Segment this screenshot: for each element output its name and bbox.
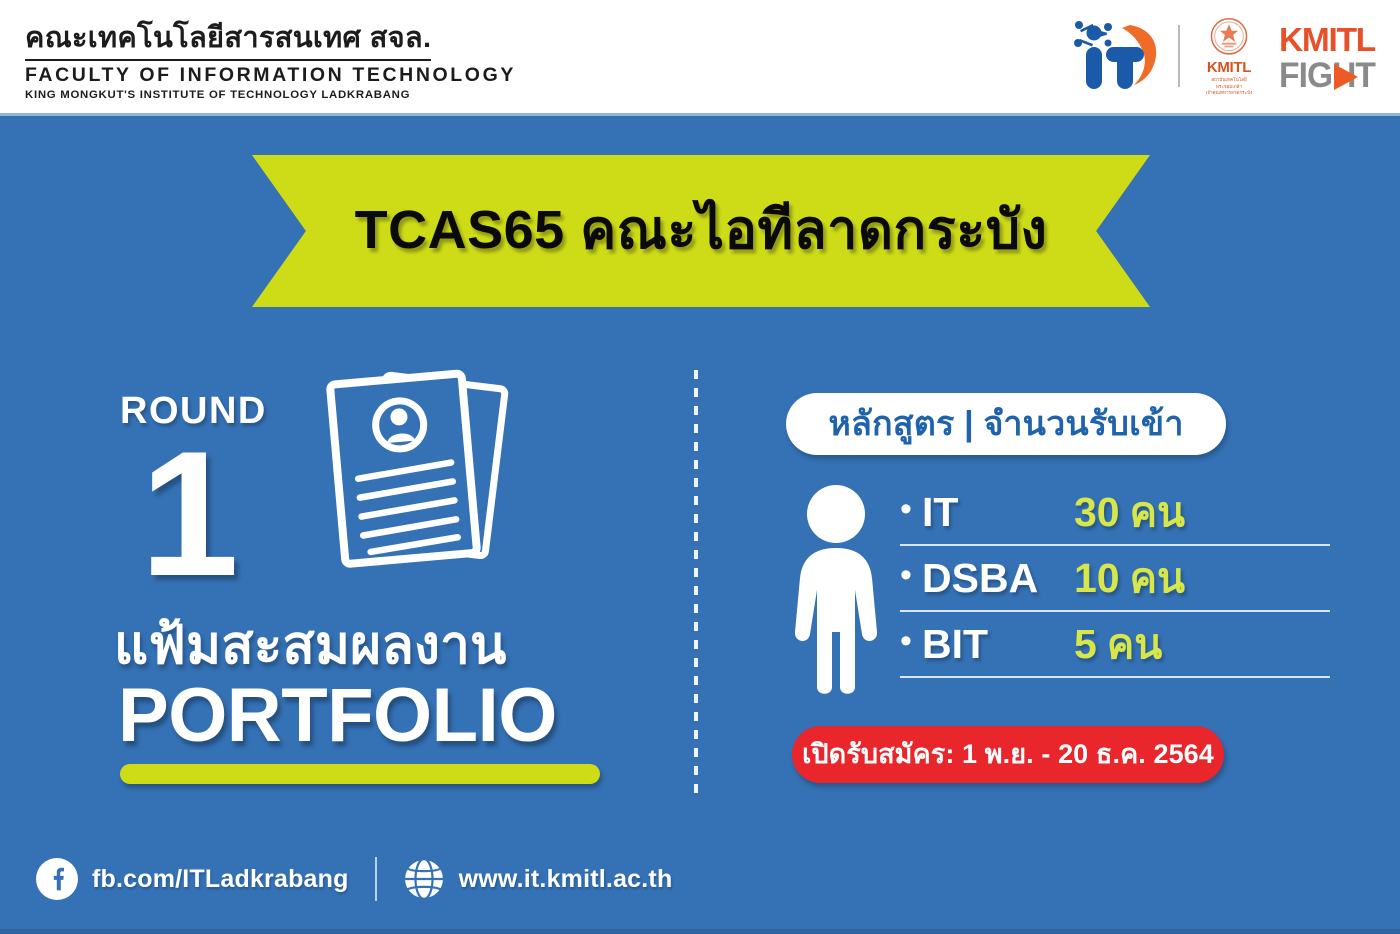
footer-contact-bar: fb.com/ITLadkrabang www.it.kmitl.ac.th xyxy=(0,824,1400,934)
kmitl-seal-icon: KMITL สถาบันเทคโนโลยีพระจอมเกล้าเจ้าคุณท… xyxy=(1194,16,1264,96)
website-url: www.it.kmitl.ac.th xyxy=(459,865,673,894)
footer-bottom-edge xyxy=(0,929,1400,934)
page-title: TCAS65 คณะไอทีลาดกระบัง xyxy=(252,155,1150,307)
kmitl-fight-logo-icon: KMITL FIGHT xyxy=(1278,18,1378,94)
logo-divider xyxy=(1178,25,1180,87)
facebook-handle: fb.com/ITLadkrabang xyxy=(92,865,349,894)
poster-root: คณะเทคโนโลยีสารสนเทศ สจล. FACULTY OF INF… xyxy=(0,0,1400,934)
bullet-icon: • xyxy=(900,509,922,515)
faculty-branding: คณะเทคโนโลยีสารสนเทศ สจล. FACULTY OF INF… xyxy=(25,22,516,102)
bullet-icon: • xyxy=(900,575,922,581)
program-row-it: • IT 30คน xyxy=(900,480,1330,546)
program-quota-unit: คน xyxy=(1130,489,1185,535)
kmitl-seal-label: KMITL xyxy=(1207,59,1251,76)
programs-heading-pill: หลักสูตร | จำนวนรับเข้า xyxy=(786,393,1226,455)
website-contact[interactable]: www.it.kmitl.ac.th xyxy=(403,858,673,900)
svg-text:KMITL: KMITL xyxy=(1279,21,1376,58)
application-period-label: เปิดรับสมัคร: 1 พ.ย. - 20 ธ.ค. 2564 xyxy=(802,732,1214,778)
program-quota: 10คน xyxy=(1074,546,1185,611)
program-quota-unit: คน xyxy=(1107,621,1162,667)
globe-icon xyxy=(403,858,445,900)
program-quota-unit: คน xyxy=(1130,555,1185,601)
it-logo-icon xyxy=(1068,17,1164,95)
application-period-badge: เปิดรับสมัคร: 1 พ.ย. - 20 ธ.ค. 2564 xyxy=(792,726,1224,783)
logo-row: KMITL สถาบันเทคโนโลยีพระจอมเกล้าเจ้าคุณท… xyxy=(1068,14,1378,98)
program-quota-number: 5 xyxy=(1074,621,1097,667)
bullet-icon: • xyxy=(900,641,922,647)
footer-divider xyxy=(375,857,377,901)
program-row-dsba: • DSBA 10คน xyxy=(900,546,1330,612)
kmitl-seal-thai-text: สถาบันเทคโนโลยีพระจอมเกล้าเจ้าคุณทหารลาด… xyxy=(1206,77,1253,96)
title-banner: TCAS65 คณะไอทีลาดกระบัง xyxy=(252,155,1150,307)
svg-text:FIGHT: FIGHT xyxy=(1279,56,1376,94)
university-name: KING MONGKUT'S INSTITUTE OF TECHNOLOGY L… xyxy=(25,89,516,102)
programs-panel: หลักสูตร | จำนวนรับเข้า • IT 30คน • DSBA… xyxy=(694,360,1400,800)
facebook-icon xyxy=(36,858,78,900)
program-name: IT xyxy=(922,489,1074,536)
facebook-contact[interactable]: fb.com/ITLadkrabang xyxy=(36,858,349,900)
program-name: DSBA xyxy=(922,555,1074,602)
round-number: 1 xyxy=(140,432,236,596)
program-quota-number: 10 xyxy=(1074,555,1120,601)
programs-list: • IT 30คน • DSBA 10คน • BIT 5คน xyxy=(900,480,1330,678)
program-quota: 30คน xyxy=(1074,480,1185,545)
portfolio-accent-bar xyxy=(120,764,600,784)
faculty-name-english: FACULTY OF INFORMATION TECHNOLOGY xyxy=(25,65,516,87)
program-name: BIT xyxy=(922,621,1074,668)
person-icon xyxy=(790,482,882,697)
round-panel: ROUND 1 แฟ้มสะสมผลงาน PORTFOLI xyxy=(0,360,694,800)
program-row-bit: • BIT 5คน xyxy=(900,612,1330,678)
header-band: คณะเทคโนโลยีสารสนเทศ สจล. FACULTY OF INF… xyxy=(0,0,1400,116)
program-quota-number: 30 xyxy=(1074,489,1120,535)
document-portfolio-icon xyxy=(312,362,534,592)
portfolio-title: PORTFOLIO xyxy=(118,678,557,754)
portfolio-thai-subtitle: แฟ้มสะสมผลงาน xyxy=(114,618,507,674)
faculty-name-thai: คณะเทคโนโลยีสารสนเทศ สจล. xyxy=(25,22,431,61)
programs-heading-label: หลักสูตร | จำนวนรับเข้า xyxy=(828,396,1183,453)
program-quota: 5คน xyxy=(1074,612,1162,677)
